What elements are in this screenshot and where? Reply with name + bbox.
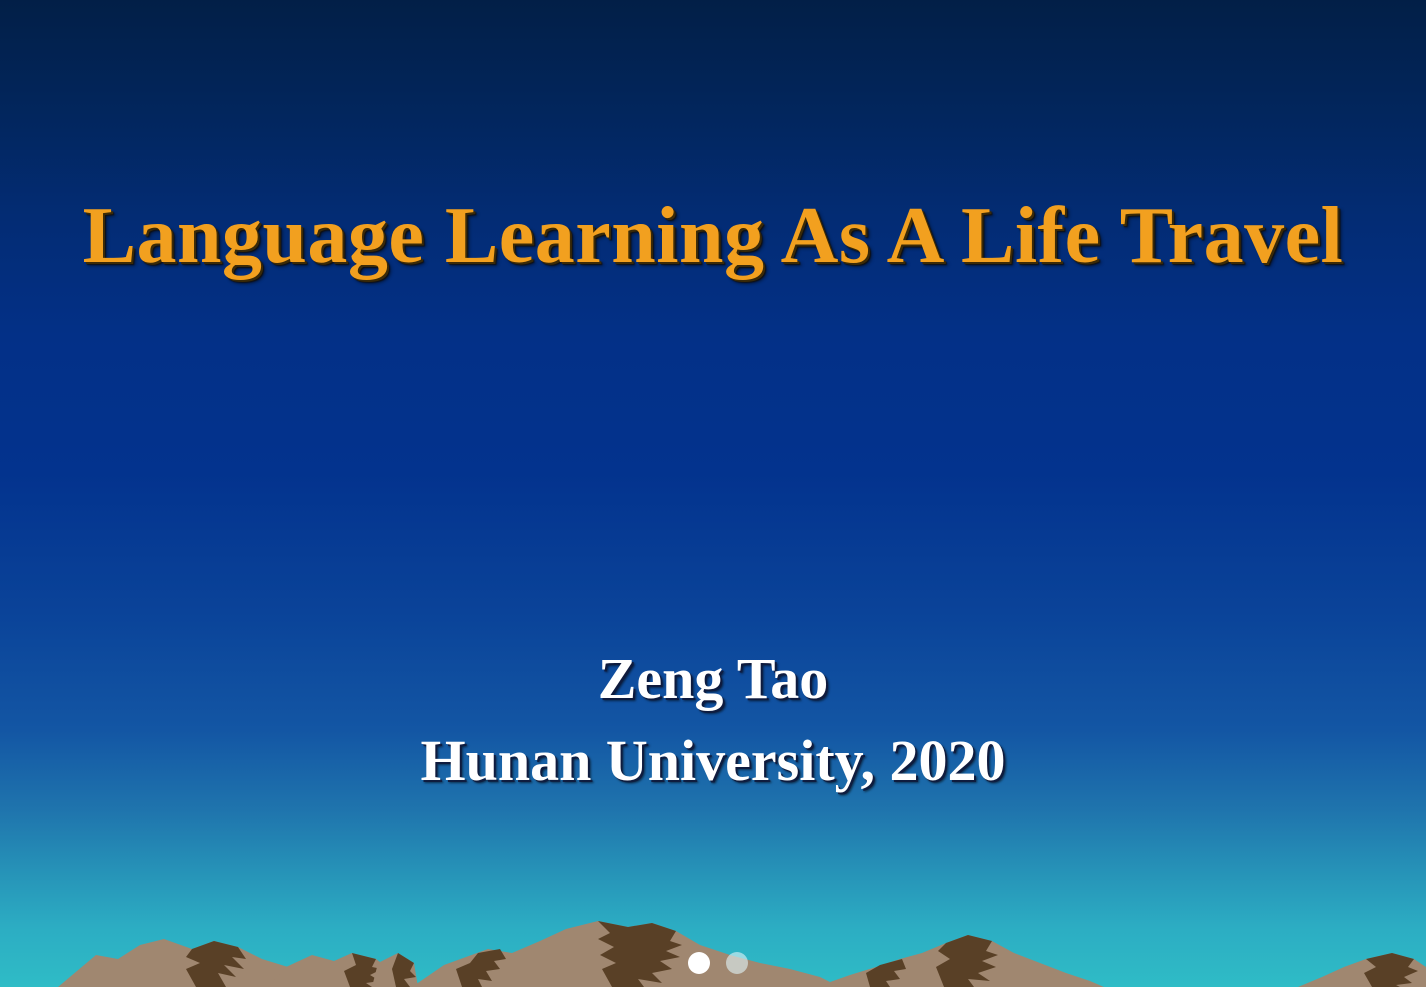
author-affiliation: Hunan University, 2020 [0, 732, 1426, 790]
title-block: Language Learning As A Life Travel [0, 196, 1426, 276]
slide-dot-1-icon[interactable] [688, 952, 710, 974]
mountain-left-light [58, 939, 300, 987]
author-name: Zeng Tao [0, 650, 1426, 708]
slide-dot-2-icon[interactable] [726, 952, 748, 974]
page-title: Language Learning As A Life Travel [83, 196, 1344, 276]
author-block: Zeng Tao Hunan University, 2020 [0, 650, 1426, 790]
presentation-slide: Language Learning As A Life Travel Zeng … [0, 0, 1426, 987]
slide-navigation-dots[interactable] [686, 952, 756, 976]
mountain-farright-shadow [1364, 953, 1418, 987]
